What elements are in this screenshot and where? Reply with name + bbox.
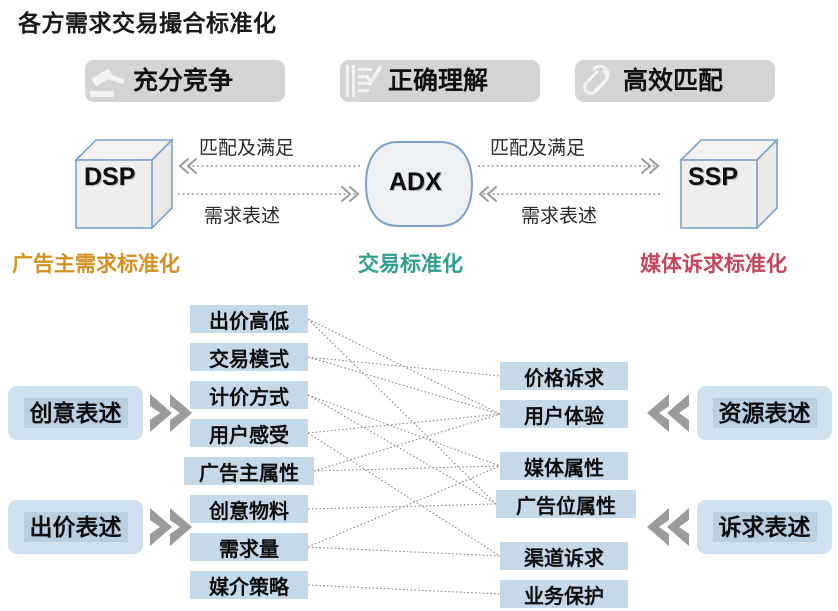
matrix-link-line [314, 466, 500, 471]
badge-efficient-matching[interactable]: 高效匹配 [575, 60, 775, 102]
matrix-item-left-1[interactable]: 交易模式 [190, 343, 308, 371]
matrix-item-right-4[interactable]: 渠道诉求 [500, 542, 628, 570]
badge-label: 充分竞争 [133, 69, 249, 94]
chevron-left-icon [641, 504, 693, 550]
matrix-link-line [308, 414, 500, 433]
page-title: 各方需求交易撮合标准化 [18, 4, 277, 38]
edge-label-dsp-to-adx: 需求表述 [204, 201, 280, 228]
group-label-text: 资源表述 [713, 398, 817, 428]
matrix-link-line [308, 357, 500, 376]
matrix-item-left-0[interactable]: 出价高低 [190, 305, 308, 333]
matrix-link-line [308, 395, 500, 466]
matrix-item-left-7[interactable]: 媒介策略 [190, 571, 308, 599]
group-label-text: 诉求表述 [713, 512, 817, 542]
caption-media-standardization: 媒体诉求标准化 [640, 248, 787, 278]
requirement-matrix: 创意表述出价表述 资源表述诉求表述 出价高低交易模式计价方式用户感受广告主属性创… [0, 290, 838, 611]
matrix-link-line [308, 433, 500, 556]
edge-label-adx-to-ssp: 匹配及满足 [490, 133, 585, 160]
checklist-icon [340, 60, 388, 102]
badge-label: 正确理解 [388, 69, 504, 94]
chevron-right-icon [146, 504, 198, 550]
matrix-link-line [308, 504, 496, 509]
adx-node-label: ADX [389, 168, 442, 197]
matrix-link-line [308, 319, 496, 504]
badge-label: 高效匹配 [623, 69, 739, 94]
matrix-link-line [314, 414, 500, 471]
matrix-item-left-5[interactable]: 创意物料 [190, 495, 308, 523]
matrix-link-line [308, 547, 500, 556]
group-label-right-1[interactable]: 诉求表述 [697, 500, 832, 554]
edge-label-adx-to-dsp: 匹配及满足 [199, 133, 294, 160]
group-label-left-1[interactable]: 出价表述 [8, 500, 143, 554]
group-label-left-0[interactable]: 创意表述 [8, 386, 143, 440]
group-label-right-0[interactable]: 资源表述 [697, 386, 832, 440]
caption-exchange-standardization: 交易标准化 [358, 248, 463, 278]
matrix-link-line [308, 466, 500, 547]
group-label-text: 出价表述 [24, 512, 128, 542]
matrix-item-right-5[interactable]: 业务保护 [500, 580, 628, 608]
matrix-item-right-2[interactable]: 媒体属性 [500, 452, 628, 480]
matrix-item-right-3[interactable]: 广告位属性 [496, 490, 636, 518]
chevron-left-icon [641, 390, 693, 436]
caption-advertiser-standardization: 广告主需求标准化 [12, 248, 180, 278]
edge-label-ssp-to-adx: 需求表述 [521, 201, 597, 228]
matrix-item-right-1[interactable]: 用户体验 [500, 400, 628, 428]
matrix-item-left-3[interactable]: 用户感受 [190, 419, 308, 447]
group-label-text: 创意表述 [24, 398, 128, 428]
matrix-item-left-6[interactable]: 需求量 [190, 533, 308, 561]
matrix-item-left-4[interactable]: 广告主属性 [184, 457, 314, 485]
paperclip-icon [575, 60, 623, 102]
ssp-node-label: SSP [688, 163, 738, 192]
badge-correct-understanding[interactable]: 正确理解 [340, 60, 540, 102]
matrix-item-left-2[interactable]: 计价方式 [190, 381, 308, 409]
flow-diagram: DSP ADX SSP 匹配及满足 需求表述 匹配及满足 需求表述 [0, 118, 838, 238]
badge-sufficient-competition[interactable]: 充分竞争 [85, 60, 285, 102]
matrix-item-right-0[interactable]: 价格诉求 [500, 362, 628, 390]
gavel-icon [85, 60, 133, 102]
matrix-link-lines [0, 290, 838, 611]
matrix-link-line [308, 585, 500, 594]
dsp-node-label: DSP [84, 163, 135, 192]
chevron-right-icon [146, 390, 198, 436]
matrix-link-line [308, 395, 496, 504]
